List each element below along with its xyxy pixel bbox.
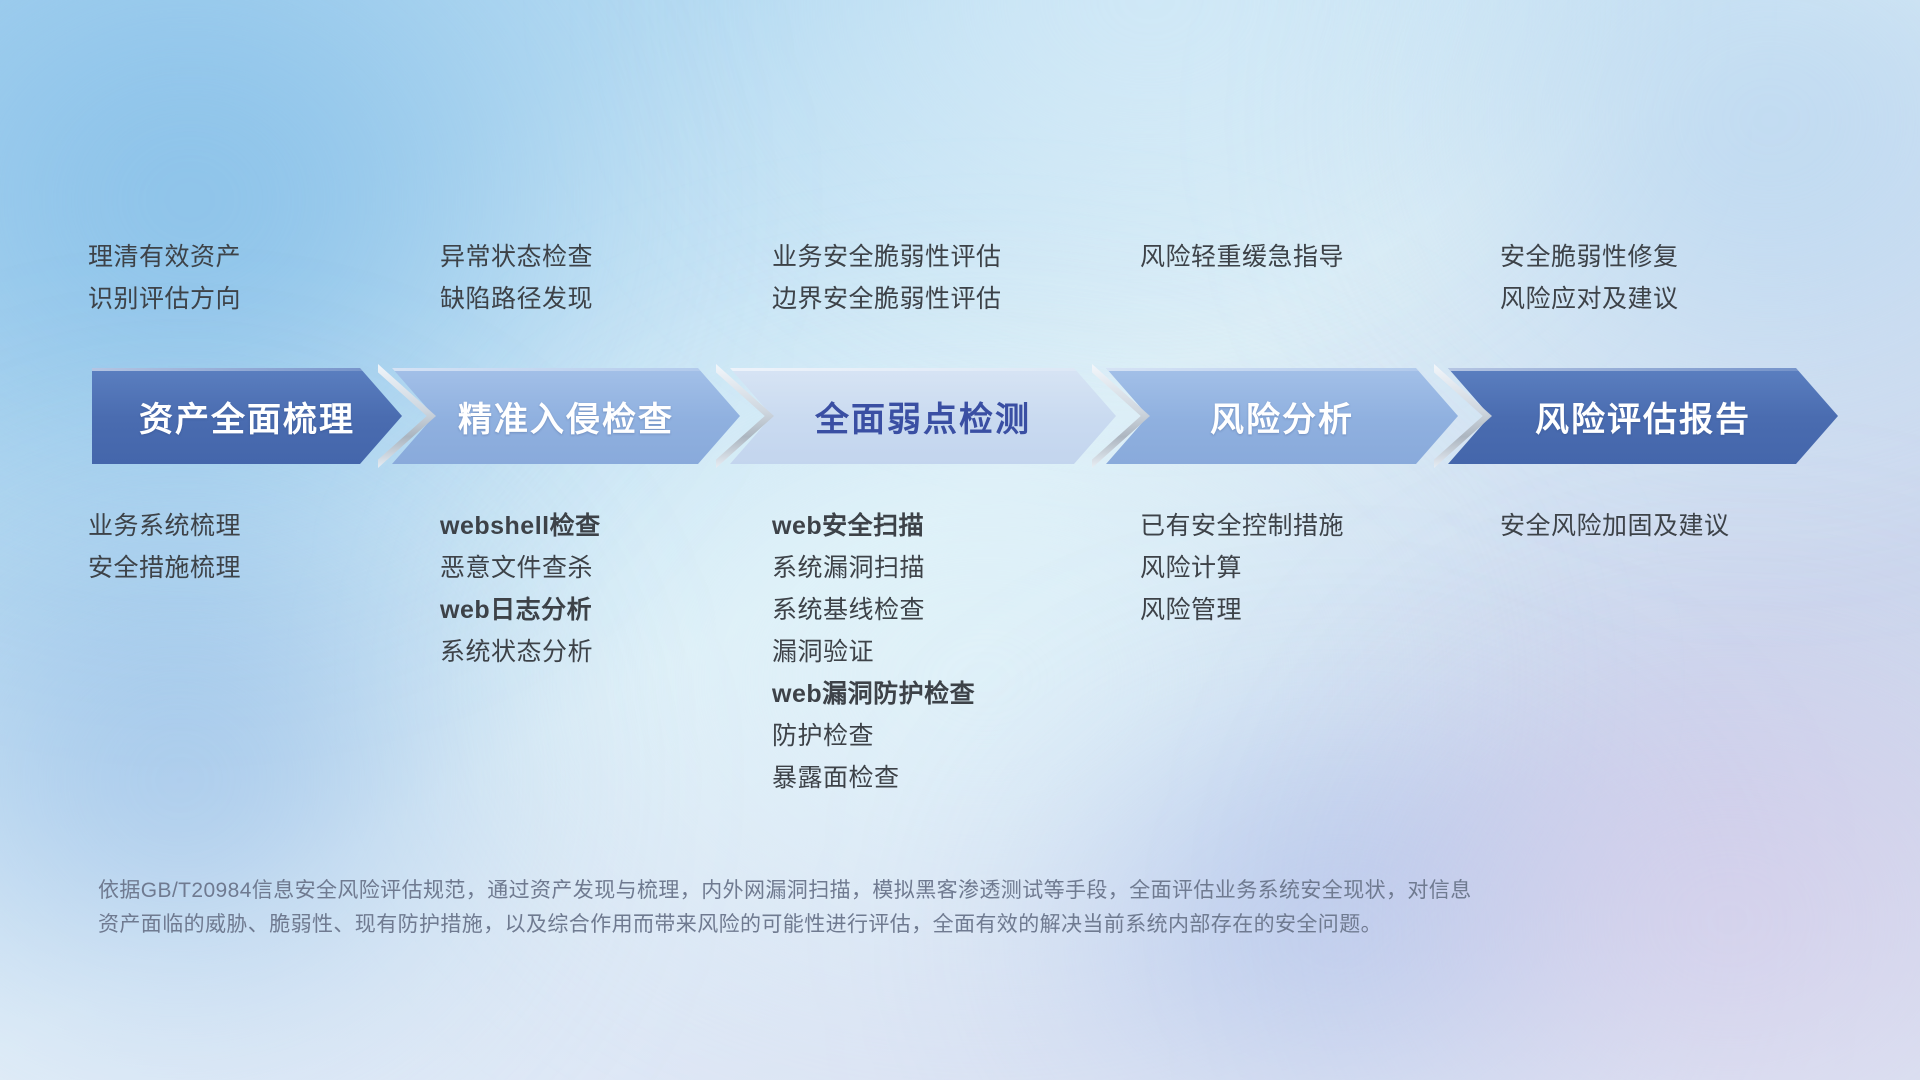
note-item: webshell检查 bbox=[440, 505, 740, 547]
note-item: 暴露面检查 bbox=[772, 757, 1144, 799]
note-item: 风险轻重缓急指导 bbox=[1140, 236, 1480, 278]
note-item: 安全脆弱性修复 bbox=[1500, 236, 1840, 278]
stage-bottom-notes-5: 安全风险加固及建议 bbox=[1500, 505, 1840, 547]
stage-label: 风险评估报告 bbox=[1535, 392, 1751, 441]
stage-chevron-2[interactable]: 精准入侵检查 bbox=[392, 368, 740, 464]
stage-label: 风险分析 bbox=[1210, 392, 1354, 441]
note-item: 系统基线检查 bbox=[772, 589, 1144, 631]
note-item: 安全措施梳理 bbox=[88, 547, 388, 589]
note-item: 异常状态检查 bbox=[440, 236, 740, 278]
stage-label: 全面弱点检测 bbox=[815, 392, 1031, 441]
stage-top-notes-4: 风险轻重缓急指导 bbox=[1140, 236, 1480, 278]
note-item: web漏洞防护检查 bbox=[772, 673, 1144, 715]
stage-bottom-notes-1: 业务系统梳理 安全措施梳理 bbox=[88, 505, 388, 589]
note-item: 安全风险加固及建议 bbox=[1500, 505, 1840, 547]
stage-bottom-notes-4: 已有安全控制措施 风险计算 风险管理 bbox=[1140, 505, 1480, 631]
note-item: web安全扫描 bbox=[772, 505, 1144, 547]
note-item: 风险管理 bbox=[1140, 589, 1480, 631]
stage-bottom-notes-2: webshell检查 恶意文件查杀 web日志分析 系统状态分析 bbox=[440, 505, 740, 673]
note-item: 防护检查 bbox=[772, 715, 1144, 757]
note-item: 边界安全脆弱性评估 bbox=[772, 278, 1144, 320]
note-item: 系统漏洞扫描 bbox=[772, 547, 1144, 589]
note-item: 风险应对及建议 bbox=[1500, 278, 1840, 320]
note-item: 恶意文件查杀 bbox=[440, 547, 740, 589]
stage-top-notes-5: 安全脆弱性修复 风险应对及建议 bbox=[1500, 236, 1840, 320]
stage-label: 资产全面梳理 bbox=[139, 392, 355, 441]
stage-chevron-band: 资产全面梳理 精准入侵检查 全面弱点检测 风险分析 风险评估报告 bbox=[0, 368, 1920, 464]
assessment-process-diagram: 理清有效资产 识别评估方向 异常状态检查 缺陷路径发现 业务安全脆弱性评估 边界… bbox=[0, 0, 1920, 1080]
stage-top-notes-1: 理清有效资产 识别评估方向 bbox=[88, 236, 388, 320]
note-item: 漏洞验证 bbox=[772, 631, 1144, 673]
note-item: 业务安全脆弱性评估 bbox=[772, 236, 1144, 278]
note-item: 业务系统梳理 bbox=[88, 505, 388, 547]
stage-chevron-4[interactable]: 风险分析 bbox=[1106, 368, 1458, 464]
stage-top-notes-3: 业务安全脆弱性评估 边界安全脆弱性评估 bbox=[772, 236, 1144, 320]
note-item: 系统状态分析 bbox=[440, 631, 740, 673]
stage-top-notes-2: 异常状态检查 缺陷路径发现 bbox=[440, 236, 740, 320]
footer-description: 依据GB/T20984信息安全风险评估规范，通过资产发现与梳理，内外网漏洞扫描，… bbox=[98, 874, 1738, 942]
note-item: 风险计算 bbox=[1140, 547, 1480, 589]
note-item: 识别评估方向 bbox=[88, 278, 388, 320]
note-item: web日志分析 bbox=[440, 589, 740, 631]
stage-chevron-3[interactable]: 全面弱点检测 bbox=[730, 368, 1116, 464]
note-item: 已有安全控制措施 bbox=[1140, 505, 1480, 547]
stage-chevron-5[interactable]: 风险评估报告 bbox=[1448, 368, 1838, 464]
stage-bottom-notes-3: web安全扫描 系统漏洞扫描 系统基线检查 漏洞验证 web漏洞防护检查 防护检… bbox=[772, 505, 1144, 799]
footer-text: 依据GB/T20984信息安全风险评估规范，通过资产发现与梳理，内外网漏洞扫描，… bbox=[98, 874, 1738, 942]
stage-chevron-1[interactable]: 资产全面梳理 bbox=[92, 368, 402, 464]
note-item: 理清有效资产 bbox=[88, 236, 388, 278]
note-item: 缺陷路径发现 bbox=[440, 278, 740, 320]
stage-label: 精准入侵检查 bbox=[458, 392, 674, 441]
